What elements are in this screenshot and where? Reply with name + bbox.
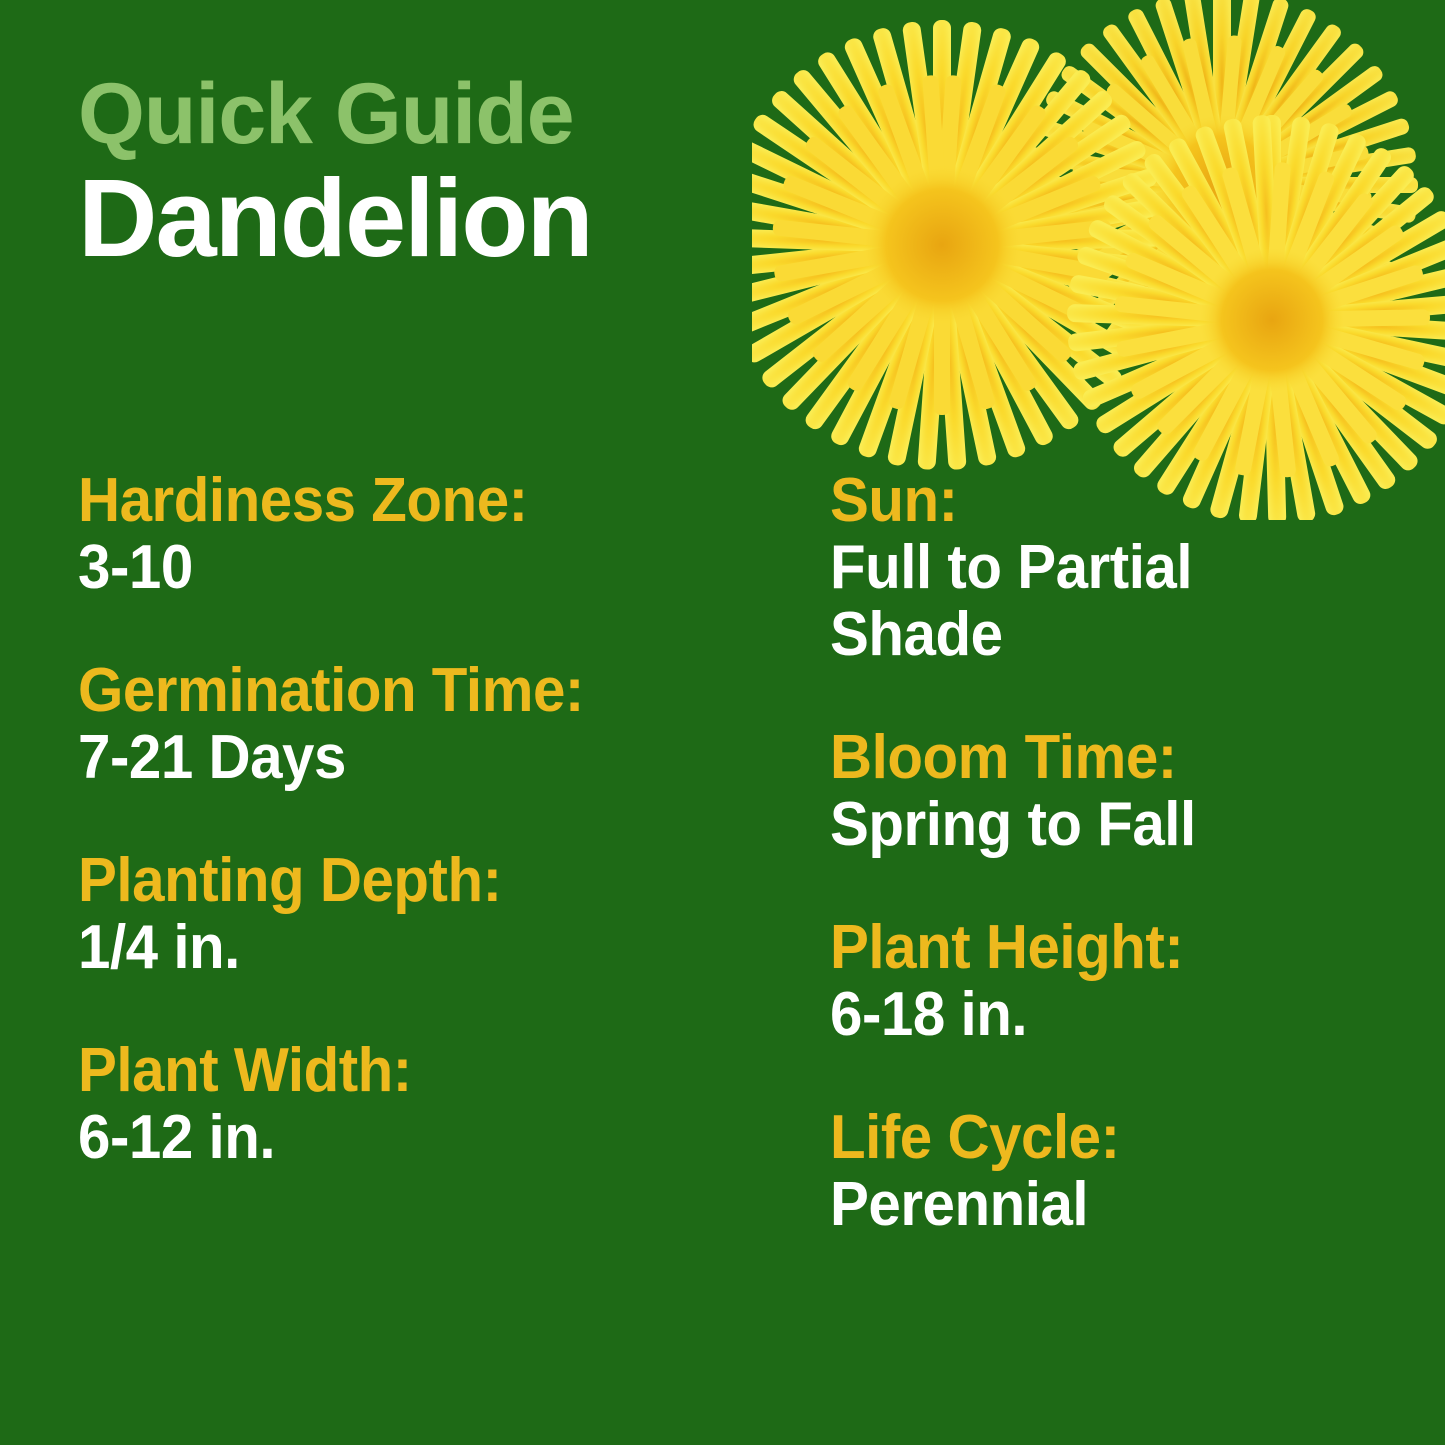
fact-sun: Sun: Full to Partial Shade [830,468,1410,669]
fact-value: Perennial [830,1172,1375,1239]
left-fact-column: Hardiness Zone: 3-10 Germination Time: 7… [78,468,778,1172]
fact-plant-height: Plant Height: 6-18 in. [830,915,1410,1049]
flower-head-back [1026,0,1418,381]
fact-label: Bloom Time: [830,725,1375,792]
fact-value: 1/4 in. [78,915,736,982]
fact-label: Planting Depth: [78,848,736,915]
flower-head-left [752,20,1167,470]
fact-value: 7-21 Days [78,725,736,792]
fact-bloom-time: Bloom Time: Spring to Fall [830,725,1410,859]
fact-life-cycle: Life Cycle: Perennial [830,1105,1410,1239]
fact-value: Spring to Fall [830,792,1375,859]
page-title: Dandelion [78,164,778,274]
fact-label: Plant Width: [78,1038,736,1105]
header-block: Quick Guide Dandelion [78,72,778,274]
quick-guide-infographic: Quick Guide Dandelion [0,0,1445,1445]
right-fact-column: Sun: Full to Partial Shade Bloom Time: S… [830,468,1410,1239]
fact-hardiness-zone: Hardiness Zone: 3-10 [78,468,778,602]
fact-label: Life Cycle: [830,1105,1375,1172]
dandelion-flowers-image [752,0,1445,520]
fact-germination-time: Germination Time: 7-21 Days [78,658,778,792]
fact-label: Plant Height: [830,915,1375,982]
fact-value: 6-12 in. [78,1105,736,1172]
quick-guide-kicker: Quick Guide [78,72,778,156]
fact-value: 6-18 in. [830,982,1375,1049]
fact-plant-width: Plant Width: 6-12 in. [78,1038,778,1172]
fact-label: Sun: [830,468,1375,535]
fact-label: Germination Time: [78,658,736,725]
fact-value: 3-10 [78,535,736,602]
fact-value: Full to Partial Shade [830,535,1375,669]
fact-planting-depth: Planting Depth: 1/4 in. [78,848,778,982]
flower-head-front [1067,115,1445,520]
fact-label: Hardiness Zone: [78,468,736,535]
